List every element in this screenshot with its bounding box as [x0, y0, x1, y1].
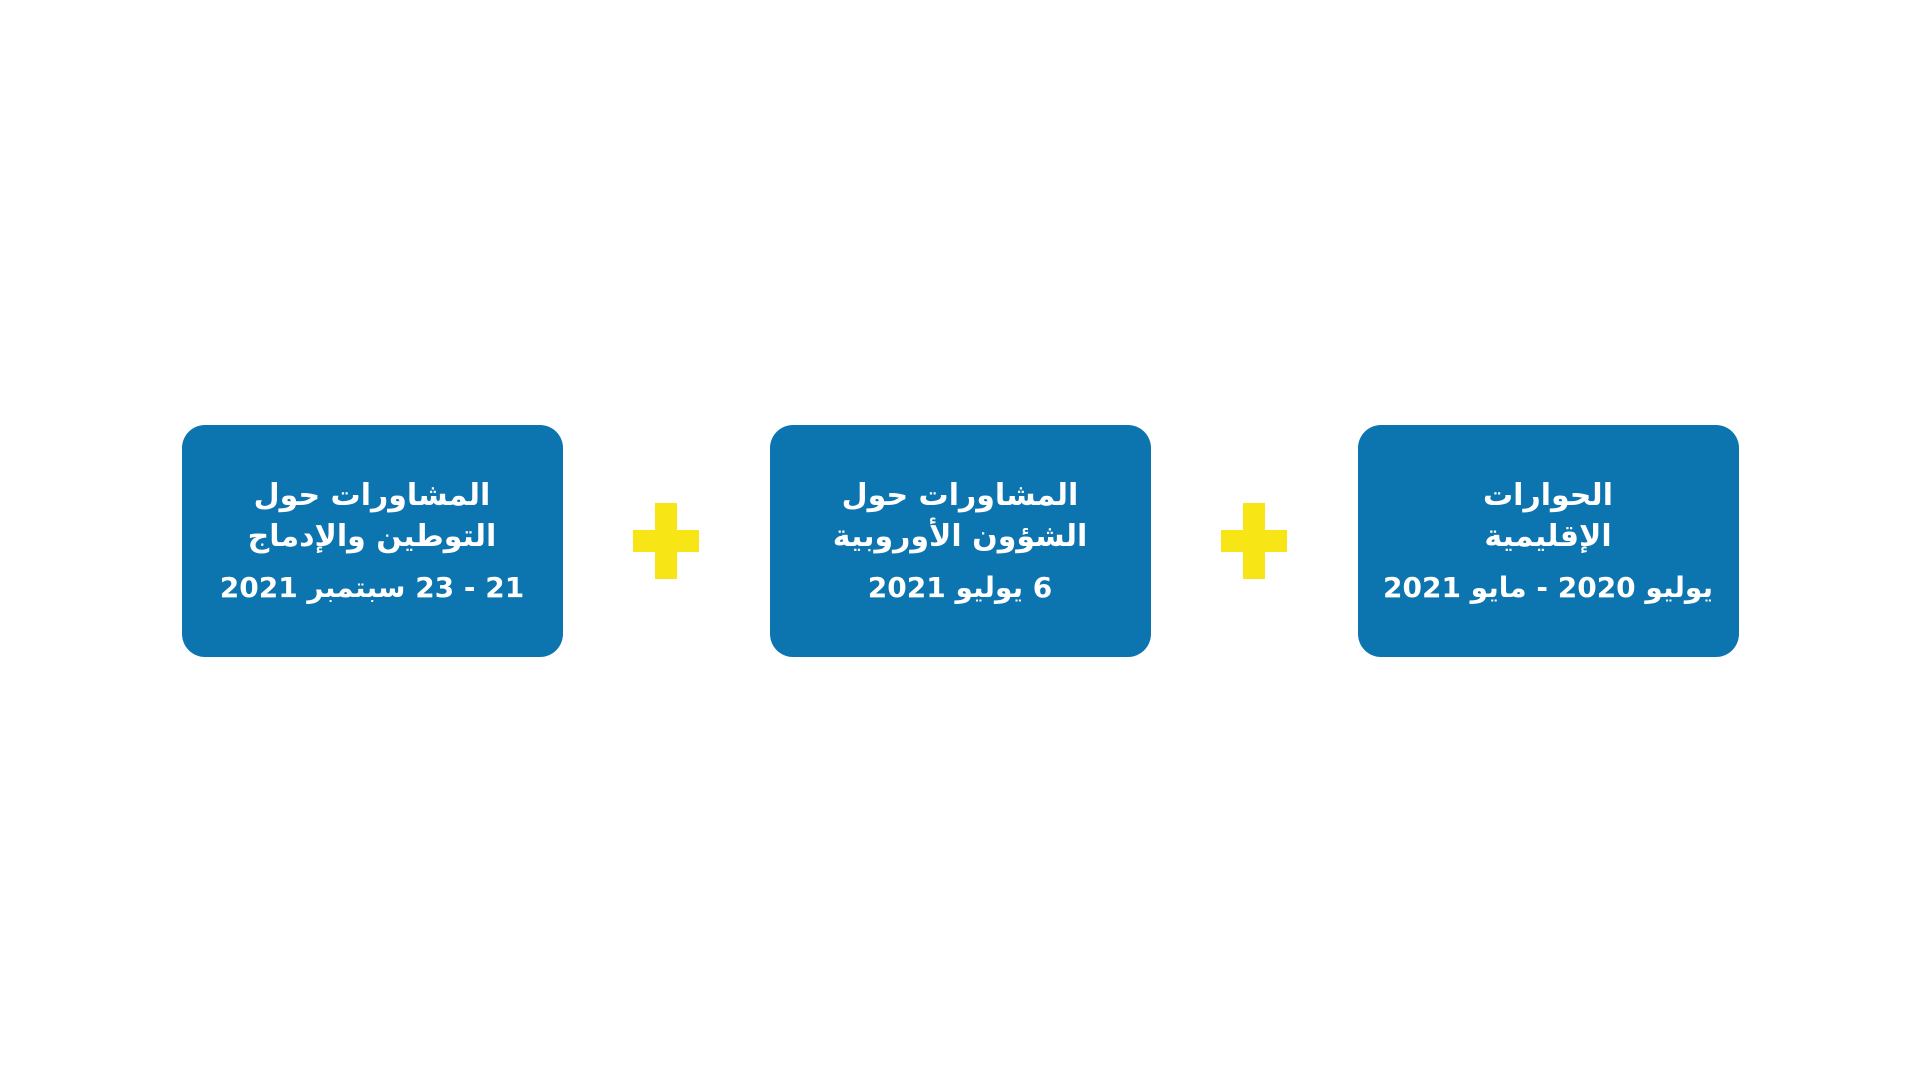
flow-card-settlement-integration[interactable]: المشاورات حول التوطين والإدماج 21 - 23 س… — [182, 425, 563, 657]
card-title-line-1: المشاورات حول — [842, 475, 1079, 516]
plus-icon — [633, 503, 699, 579]
card-title-line-1: الحوارات — [1483, 475, 1613, 516]
card-title-line-2: الشؤون الأوروبية — [833, 516, 1087, 557]
flow-card-european-affairs[interactable]: المشاورات حول الشؤون الأوروبية 6 يوليو 2… — [770, 425, 1151, 657]
flow-separator-1 — [563, 425, 770, 657]
card-title-line-2: الإقليمية — [1484, 516, 1611, 557]
card-date: 6 يوليو 2021 — [868, 568, 1052, 608]
flow-card-regional-dialogues[interactable]: الحوارات الإقليمية يوليو 2020 - مايو 202… — [1358, 425, 1739, 657]
card-date: يوليو 2020 - مايو 2021 — [1383, 568, 1713, 608]
card-title-line-1: المشاورات حول — [254, 475, 491, 516]
flow-separator-2 — [1151, 425, 1358, 657]
card-title-line-2: التوطين والإدماج — [248, 516, 497, 557]
plus-icon — [1221, 503, 1287, 579]
card-date: 21 - 23 سبتمبر 2021 — [220, 568, 525, 608]
process-flow-row: الحوارات الإقليمية يوليو 2020 - مايو 202… — [0, 425, 1920, 657]
diagram-canvas: الحوارات الإقليمية يوليو 2020 - مايو 202… — [0, 0, 1920, 1080]
plus-icon-vertical-bar — [655, 503, 677, 579]
plus-icon-vertical-bar — [1243, 503, 1265, 579]
